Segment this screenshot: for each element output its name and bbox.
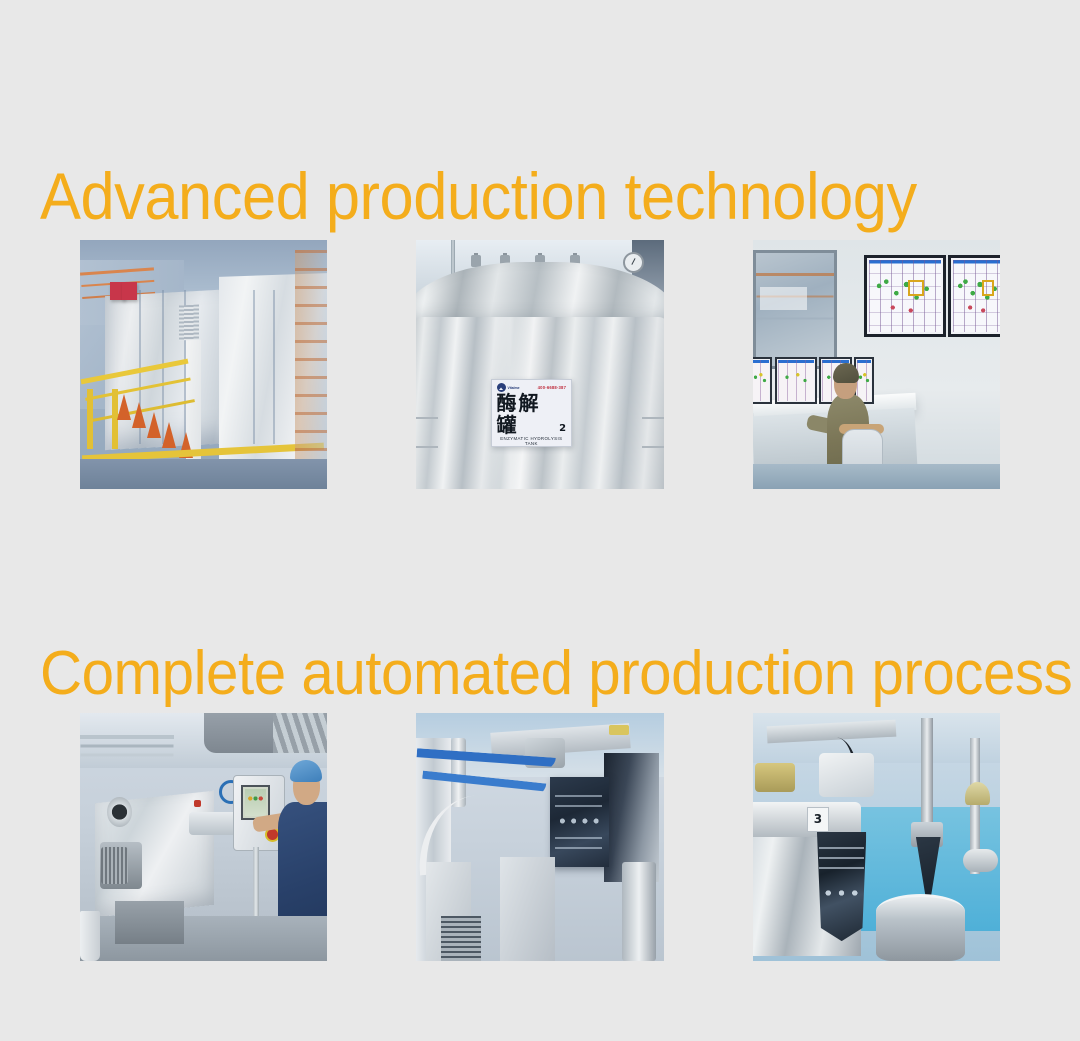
clamp-assembly xyxy=(963,849,998,871)
right-scaffold-bars xyxy=(295,250,327,479)
red-valve-handle xyxy=(194,800,201,807)
pouch-print-line xyxy=(819,857,864,859)
filling-nozzle-column xyxy=(921,718,933,837)
logo-mark-icon xyxy=(497,383,506,392)
pouch-print-line xyxy=(555,847,602,849)
station-number-tag: 3 xyxy=(807,807,829,831)
monitor-screen xyxy=(778,360,814,401)
monitor-screen xyxy=(857,360,871,401)
brass-hopper xyxy=(755,763,795,793)
window-reflection xyxy=(760,287,807,310)
hmi-touchscreen xyxy=(241,785,271,820)
scada-highlight-box xyxy=(908,280,923,296)
photo-rotary-pouch-filler[interactable]: 3 xyxy=(753,713,1000,961)
top-pipe xyxy=(451,240,455,275)
pouch-icon-strip xyxy=(822,887,862,899)
scada-diagram xyxy=(953,260,1000,332)
traffic-cone xyxy=(117,394,131,420)
pouch-print-line xyxy=(555,795,602,797)
section-heading-advanced-production-technology: Advanced production technology xyxy=(40,159,917,233)
window-view-pipes xyxy=(756,273,834,276)
drive-pulley xyxy=(107,797,132,827)
overhead-pipes xyxy=(80,735,174,739)
screw-conveyor xyxy=(273,713,327,753)
drive-housing xyxy=(819,753,873,798)
photo-control-room[interactable] xyxy=(753,240,1000,489)
wall-scada-screen-right xyxy=(948,255,1000,337)
tank-bracket-left xyxy=(416,417,438,448)
tank-identification-label: Vitalme 400-6688-387 酶解罐 2 ENZYMATIC HYD… xyxy=(491,379,573,446)
tank-bracket-right xyxy=(642,417,664,448)
cabinet-seam xyxy=(273,290,275,444)
pouch-print-line xyxy=(555,805,602,807)
rotary-drum xyxy=(622,862,657,961)
wall-scada-screen-left xyxy=(864,255,946,337)
photo-enzymatic-hydrolysis-tank[interactable]: Vitalme 400-6688-387 酶解罐 2 ENZYMATIC HYD… xyxy=(416,240,663,489)
product-showcase-page: Advanced production technology xyxy=(0,0,1080,1041)
photo-industrial-drying-line[interactable] xyxy=(80,240,327,489)
pouch-icon-strip xyxy=(557,815,602,827)
control-room-floor xyxy=(753,464,1000,489)
cabinet-seam xyxy=(253,290,255,444)
traffic-cone xyxy=(162,422,176,448)
photo-operator-hmi-panel[interactable] xyxy=(80,713,327,961)
photo-row-technology: Vitalme 400-6688-387 酶解罐 2 ENZYMATIC HYD… xyxy=(40,224,1040,473)
motor-cooling-fins xyxy=(101,847,128,884)
photo-row-automation: 3 xyxy=(40,697,1040,945)
plant-floor xyxy=(80,459,327,489)
brass-cone-fitting xyxy=(965,782,990,804)
traffic-cone xyxy=(132,402,146,428)
desk-monitor xyxy=(775,357,817,404)
traffic-cone xyxy=(147,412,161,438)
scada-highlight-box xyxy=(982,280,994,296)
collection-tray xyxy=(115,901,184,943)
white-bucket xyxy=(80,911,100,961)
scada-diagram xyxy=(869,260,941,332)
railing-post xyxy=(87,389,93,449)
pouch-print-line xyxy=(819,867,864,869)
monitor-screen xyxy=(753,360,770,401)
pouch-print-line xyxy=(555,837,602,839)
operator-cap xyxy=(833,363,859,383)
logo-text: Vitalme xyxy=(508,386,520,390)
cabinet-vent-grille xyxy=(179,304,199,340)
red-control-box xyxy=(122,282,137,300)
yellow-guard xyxy=(609,725,629,735)
label-title-english: ENZYMATIC HYDROLYSIS TANK xyxy=(497,436,567,446)
desk-monitor xyxy=(753,357,773,404)
stainless-collection-bowl xyxy=(876,894,965,961)
label-title-cn-text: 酶解罐 xyxy=(497,392,558,436)
conveyor-grid xyxy=(441,916,481,961)
observation-window xyxy=(753,250,837,370)
guard-plate xyxy=(500,857,554,961)
pouch-print-line xyxy=(819,847,864,849)
service-phone-number: 400-6688-387 xyxy=(538,385,566,390)
label-tank-number: 2 xyxy=(559,423,566,436)
photo-pouch-packaging-machine[interactable] xyxy=(416,713,663,961)
label-title-chinese: 酶解罐 2 xyxy=(497,392,567,436)
